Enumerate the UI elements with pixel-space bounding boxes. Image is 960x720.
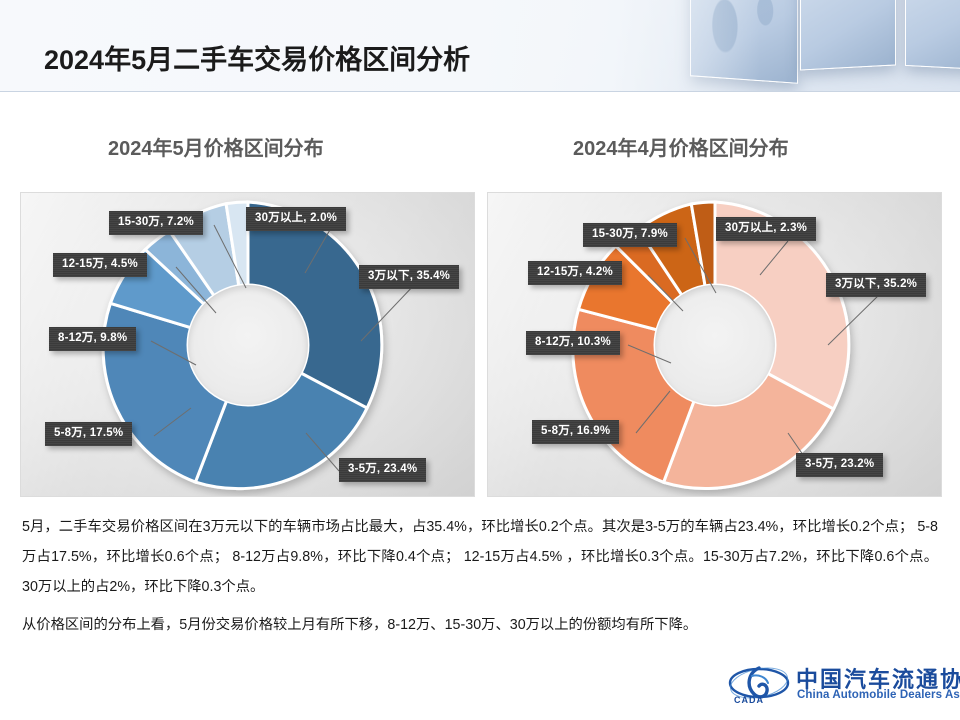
analysis-paragraph-2: 从价格区间的分布上看，5月份交易价格较上月有所下移，8-12万、15-30万、3… — [22, 610, 938, 640]
cada-abbr: CADA — [734, 695, 764, 705]
donut-hole-april — [655, 285, 775, 405]
decor-cube-2 — [800, 0, 896, 71]
callout-apr-5to8w: 5-8万, 16.9% — [532, 420, 619, 444]
analysis-text: 5月，二手车交易价格区间在3万元以下的车辆市场占比最大，占35.4%，环比增长0… — [22, 512, 938, 640]
slide-root: 2024年5月二手车交易价格区间分析 2024年5月价格区间分布 2024年4月… — [0, 0, 960, 720]
slide-header: 2024年5月二手车交易价格区间分析 — [0, 0, 960, 92]
callout-apr-3to5w: 3-5万, 23.2% — [796, 453, 883, 477]
analysis-paragraph-1: 5月，二手车交易价格区间在3万元以下的车辆市场占比最大，占35.4%，环比增长0… — [22, 512, 938, 602]
callout-apr-8to12w: 8-12万, 10.3% — [526, 331, 620, 355]
donut-hole-may — [188, 285, 308, 405]
chart-subtitle-left: 2024年5月价格区间分布 — [108, 132, 324, 161]
callout-may-3to5w: 3-5万, 23.4% — [339, 458, 426, 482]
page-title: 2024年5月二手车交易价格区间分析 — [44, 38, 470, 77]
callout-apr-under3w: 3万以下, 35.2% — [826, 273, 926, 297]
cada-logo-en: China Automobile Dealers Association — [797, 689, 960, 701]
decor-cube-3 — [905, 0, 960, 70]
donut-chart-may — [98, 195, 398, 495]
callout-may-15to30w: 15-30万, 7.2% — [109, 211, 203, 235]
callout-apr-over30w: 30万以上, 2.3% — [716, 217, 816, 241]
callout-apr-12to15w: 12-15万, 4.2% — [528, 261, 622, 285]
callout-apr-15to30w: 15-30万, 7.9% — [583, 223, 677, 247]
chart-subtitle-right: 2024年4月价格区间分布 — [573, 132, 789, 161]
chart-panel-may: 15-30万, 7.2% 30万以上, 2.0% 3万以下, 35.4% 12-… — [20, 192, 475, 497]
callout-may-8to12w: 8-12万, 9.8% — [49, 327, 136, 351]
callout-may-over30w: 30万以上, 2.0% — [246, 207, 346, 231]
callout-may-5to8w: 5-8万, 17.5% — [45, 422, 132, 446]
chart-panel-april: 15-30万, 7.9% 30万以上, 2.3% 3万以下, 35.2% 12-… — [487, 192, 942, 497]
callout-may-under3w: 3万以下, 35.4% — [359, 265, 459, 289]
callout-may-12to15w: 12-15万, 4.5% — [53, 253, 147, 277]
donut-svg-may — [98, 195, 398, 495]
header-divider — [0, 91, 960, 92]
cada-logo: CADA 中国汽车流通协会 China Automobile Dealers A… — [728, 662, 946, 712]
donut-segments-may — [103, 202, 382, 489]
